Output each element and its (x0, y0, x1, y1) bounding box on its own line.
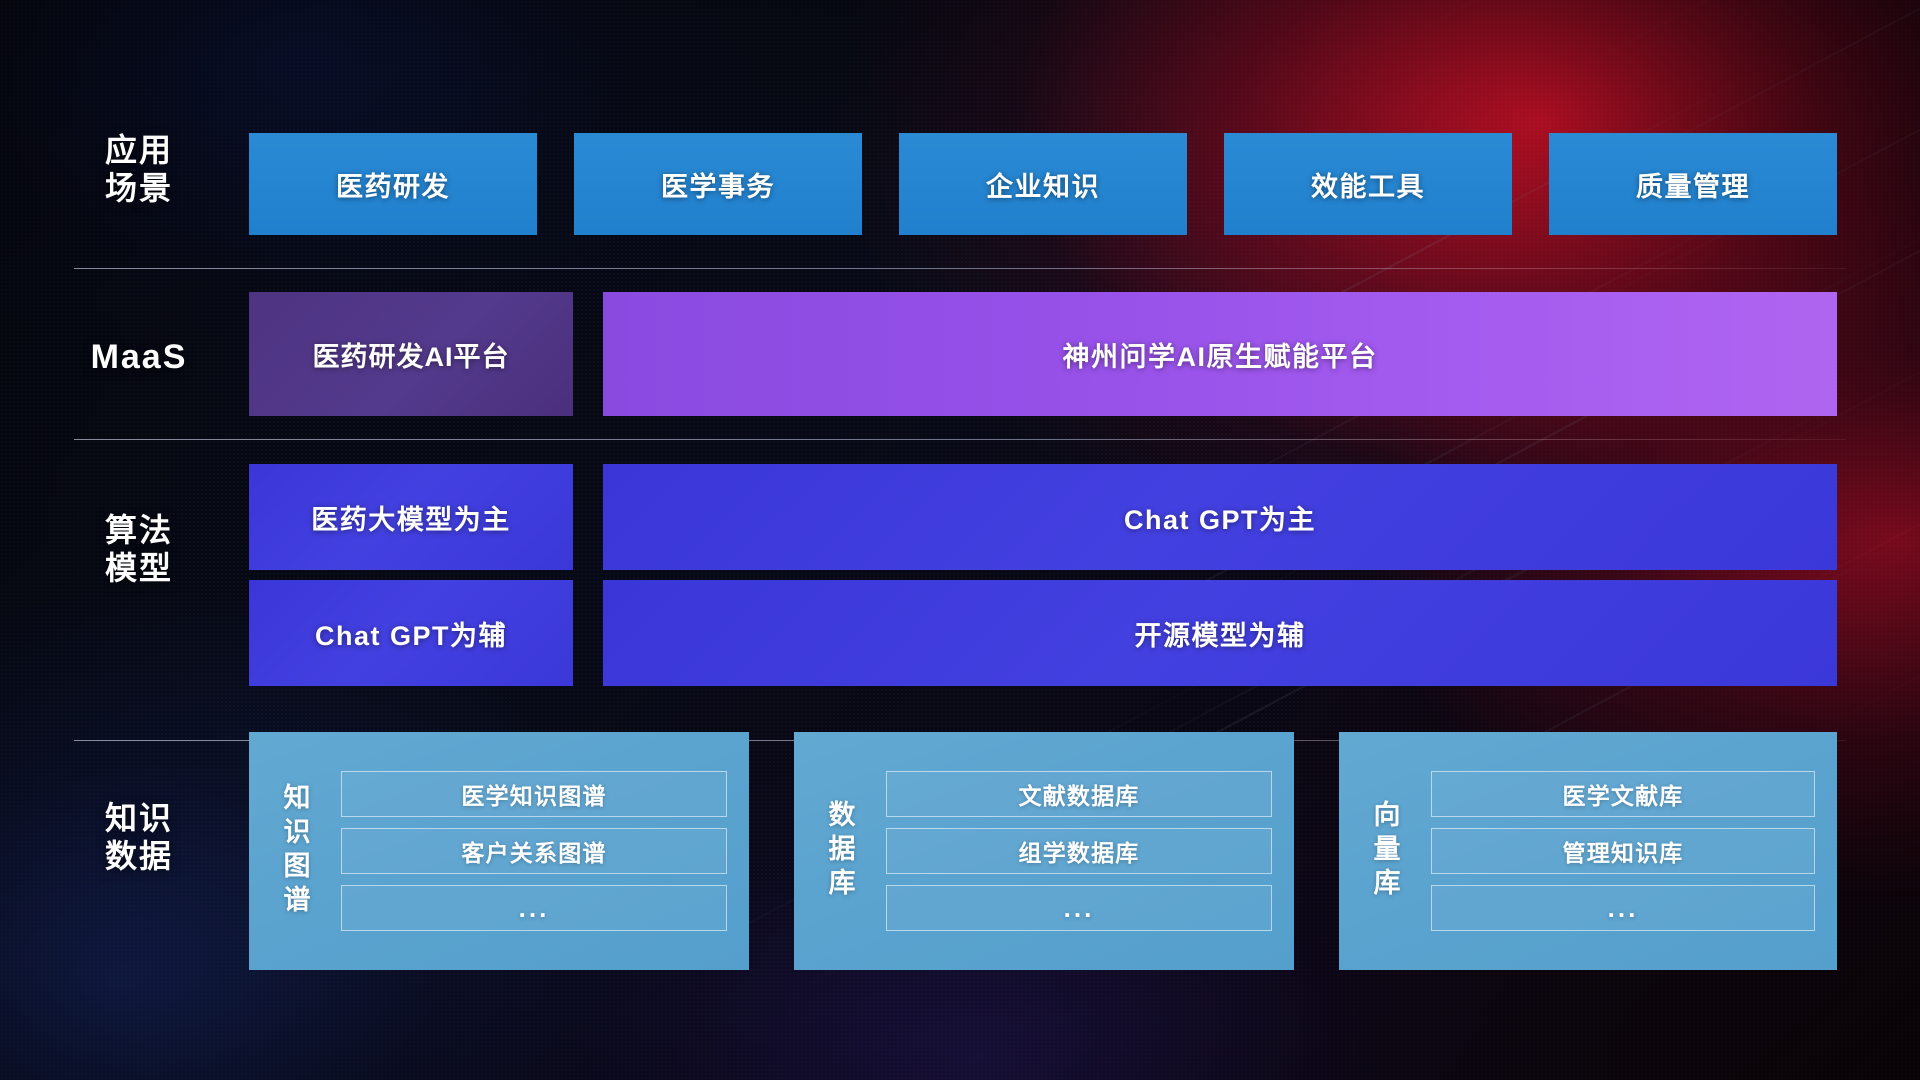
tier-label-line: 算法 (74, 512, 204, 550)
knowledge-group-items: 医学文献库 管理知识库 ... (1431, 732, 1837, 970)
knowledge-item[interactable]: 文献数据库 (886, 771, 1272, 817)
knowledge-item[interactable]: 组学数据库 (886, 828, 1272, 874)
tier-label-application-scenarios: 应用 场景 (74, 132, 204, 208)
tier-label-line: 数据 (74, 838, 204, 876)
knowledge-group-knowledge-graph[interactable]: 知识图谱 医学知识图谱 客户关系图谱 ... (249, 732, 749, 970)
knowledge-group-title: 知识图谱 (249, 732, 341, 970)
tier-label-line: 模型 (74, 550, 204, 588)
knowledge-item[interactable]: 客户关系图谱 (341, 828, 727, 874)
knowledge-item-more[interactable]: ... (341, 885, 727, 931)
knowledge-group-items: 文献数据库 组学数据库 ... (886, 732, 1294, 970)
maas-box-shenzhou-wenxue-platform[interactable]: 神州问学AI原生赋能平台 (603, 292, 1837, 416)
app-box-medical-affairs[interactable]: 医学事务 (574, 133, 862, 235)
app-box-medicine-rd[interactable]: 医药研发 (249, 133, 537, 235)
knowledge-group-database[interactable]: 数据库 文献数据库 组学数据库 ... (794, 732, 1294, 970)
divider-2 (74, 439, 1846, 440)
algo-box-medicine-large-model-primary[interactable]: 医药大模型为主 (249, 464, 573, 570)
knowledge-group-vector-store[interactable]: 向量库 医学文献库 管理知识库 ... (1339, 732, 1837, 970)
algo-box-chatgpt-secondary[interactable]: Chat GPT为辅 (249, 580, 573, 686)
app-box-enterprise-knowledge[interactable]: 企业知识 (899, 133, 1187, 235)
tier-label-line: 知识 (74, 800, 204, 838)
maas-box-medicine-ai-platform[interactable]: 医药研发AI平台 (249, 292, 573, 416)
app-box-quality-management[interactable]: 质量管理 (1549, 133, 1837, 235)
tier-label-maas: MaaS (74, 337, 204, 377)
tier-label-algorithm-model: 算法 模型 (74, 512, 204, 588)
tier-label-line: MaaS (74, 337, 204, 377)
tier-label-knowledge-data: 知识 数据 (74, 800, 204, 876)
architecture-diagram: 应用 场景 医药研发 医学事务 企业知识 效能工具 质量管理 MaaS 医药研发… (0, 0, 1920, 1080)
knowledge-group-title: 数据库 (794, 732, 886, 970)
knowledge-item-more[interactable]: ... (886, 885, 1272, 931)
tier-label-line: 场景 (74, 170, 204, 208)
tier-label-line: 应用 (74, 132, 204, 170)
knowledge-item[interactable]: 管理知识库 (1431, 828, 1815, 874)
knowledge-item[interactable]: 医学文献库 (1431, 771, 1815, 817)
knowledge-group-items: 医学知识图谱 客户关系图谱 ... (341, 732, 749, 970)
knowledge-group-title: 向量库 (1339, 732, 1431, 970)
knowledge-item[interactable]: 医学知识图谱 (341, 771, 727, 817)
app-box-efficiency-tools[interactable]: 效能工具 (1224, 133, 1512, 235)
algo-box-chatgpt-primary[interactable]: Chat GPT为主 (603, 464, 1837, 570)
knowledge-item-more[interactable]: ... (1431, 885, 1815, 931)
algo-box-opensource-model-secondary[interactable]: 开源模型为辅 (603, 580, 1837, 686)
divider-1 (74, 268, 1846, 269)
